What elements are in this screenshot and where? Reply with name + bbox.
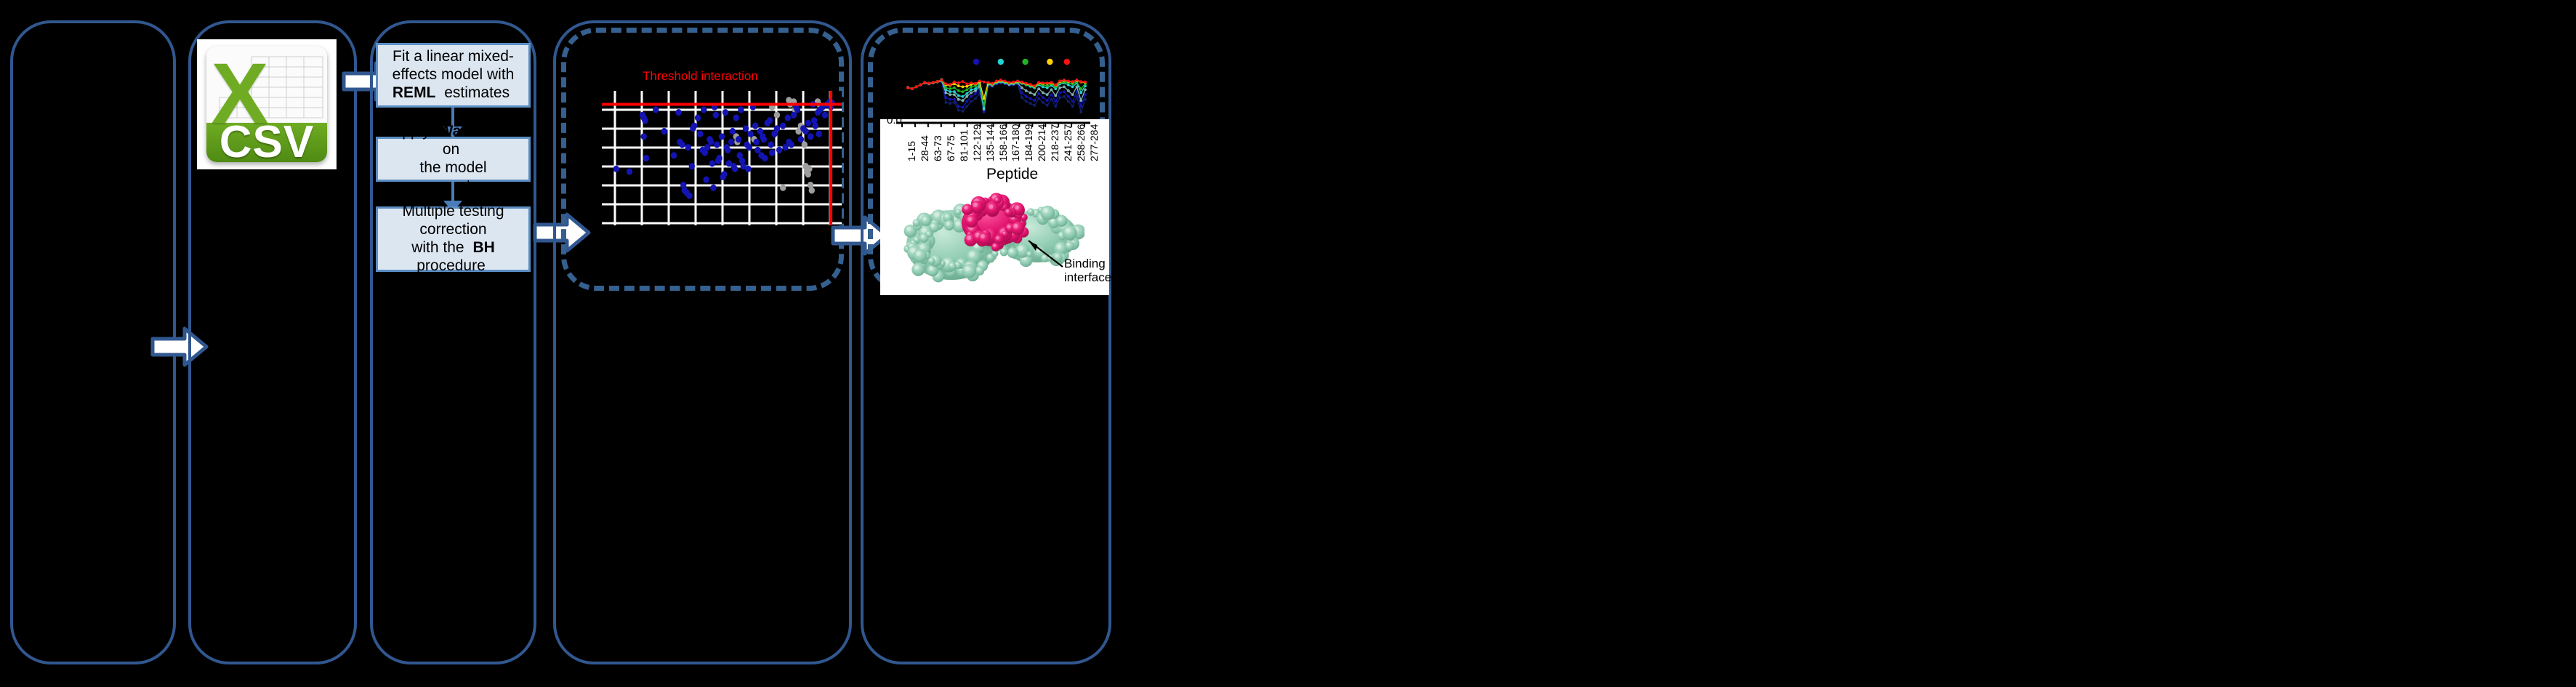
pipeline-diagram: X CSV Fit a linear mixed- effects model … xyxy=(0,0,2576,687)
binding-interface-annotation: Binding interface xyxy=(1064,257,1111,284)
peptide-tick-label: 122-129 xyxy=(971,124,983,161)
step-reml-line1: Fit a linear mixed- xyxy=(388,48,519,66)
peptide-tick-label: 200-214 xyxy=(1036,124,1047,161)
peptide-tick-label: 241-257 xyxy=(1062,124,1074,161)
step-bh-line2: correction xyxy=(382,221,524,239)
binding-interface-line2: interface xyxy=(1064,270,1111,284)
step-reml-box[interactable]: Fit a linear mixed- effects model with R… xyxy=(376,43,531,108)
peptide-tick-label: 158-166 xyxy=(997,124,1009,161)
peptide-axis-title: Peptide xyxy=(986,166,1038,183)
csv-file-icon: X CSV xyxy=(198,40,336,169)
peptide-tick-label: 28-44 xyxy=(919,135,930,161)
peptide-tick-label: 184-199 xyxy=(1023,124,1034,161)
protein-structure-image xyxy=(899,185,1084,291)
peptide-tick-label: 258-266 xyxy=(1075,124,1087,161)
peptide-line-chart xyxy=(901,57,1090,126)
step-bh-pre: with the xyxy=(407,239,472,256)
step-reml-bold: REML xyxy=(393,84,436,101)
step-bh-line1: Multiple testing xyxy=(382,203,524,221)
binding-interface-line1: Binding xyxy=(1064,257,1111,270)
step-wald-bold: Wald tests xyxy=(439,123,515,140)
peptide-tick-label: 81-101 xyxy=(958,129,970,161)
step-bh-box[interactable]: Multiple testing correction with the BH … xyxy=(376,206,531,272)
step-reml-line3-rest: estimates xyxy=(435,84,514,101)
peptide-tick-label: 135-144 xyxy=(984,124,996,161)
peptide-tick-label: 277-284 xyxy=(1088,124,1100,161)
threshold-interaction-label: Threshold interaction xyxy=(643,69,758,84)
step-bh-bold: BH xyxy=(472,239,494,256)
peptide-tick-label: 63-73 xyxy=(932,135,943,161)
step-reml-line2: effects model with xyxy=(388,66,519,84)
peptide-tick-label: 218-237 xyxy=(1049,124,1060,161)
peptide-tick-label: 1-15 xyxy=(906,141,917,161)
step-wald-pre: Apply xyxy=(387,123,438,140)
peptide-tick-label: 67-75 xyxy=(945,135,957,161)
excel-x-letter: X xyxy=(212,51,255,111)
peptide-tick-label: 167-180 xyxy=(1010,124,1021,161)
step-wald-box[interactable]: Apply Wald tests on the model parameters xyxy=(376,137,531,182)
scatter-plot xyxy=(602,91,842,225)
